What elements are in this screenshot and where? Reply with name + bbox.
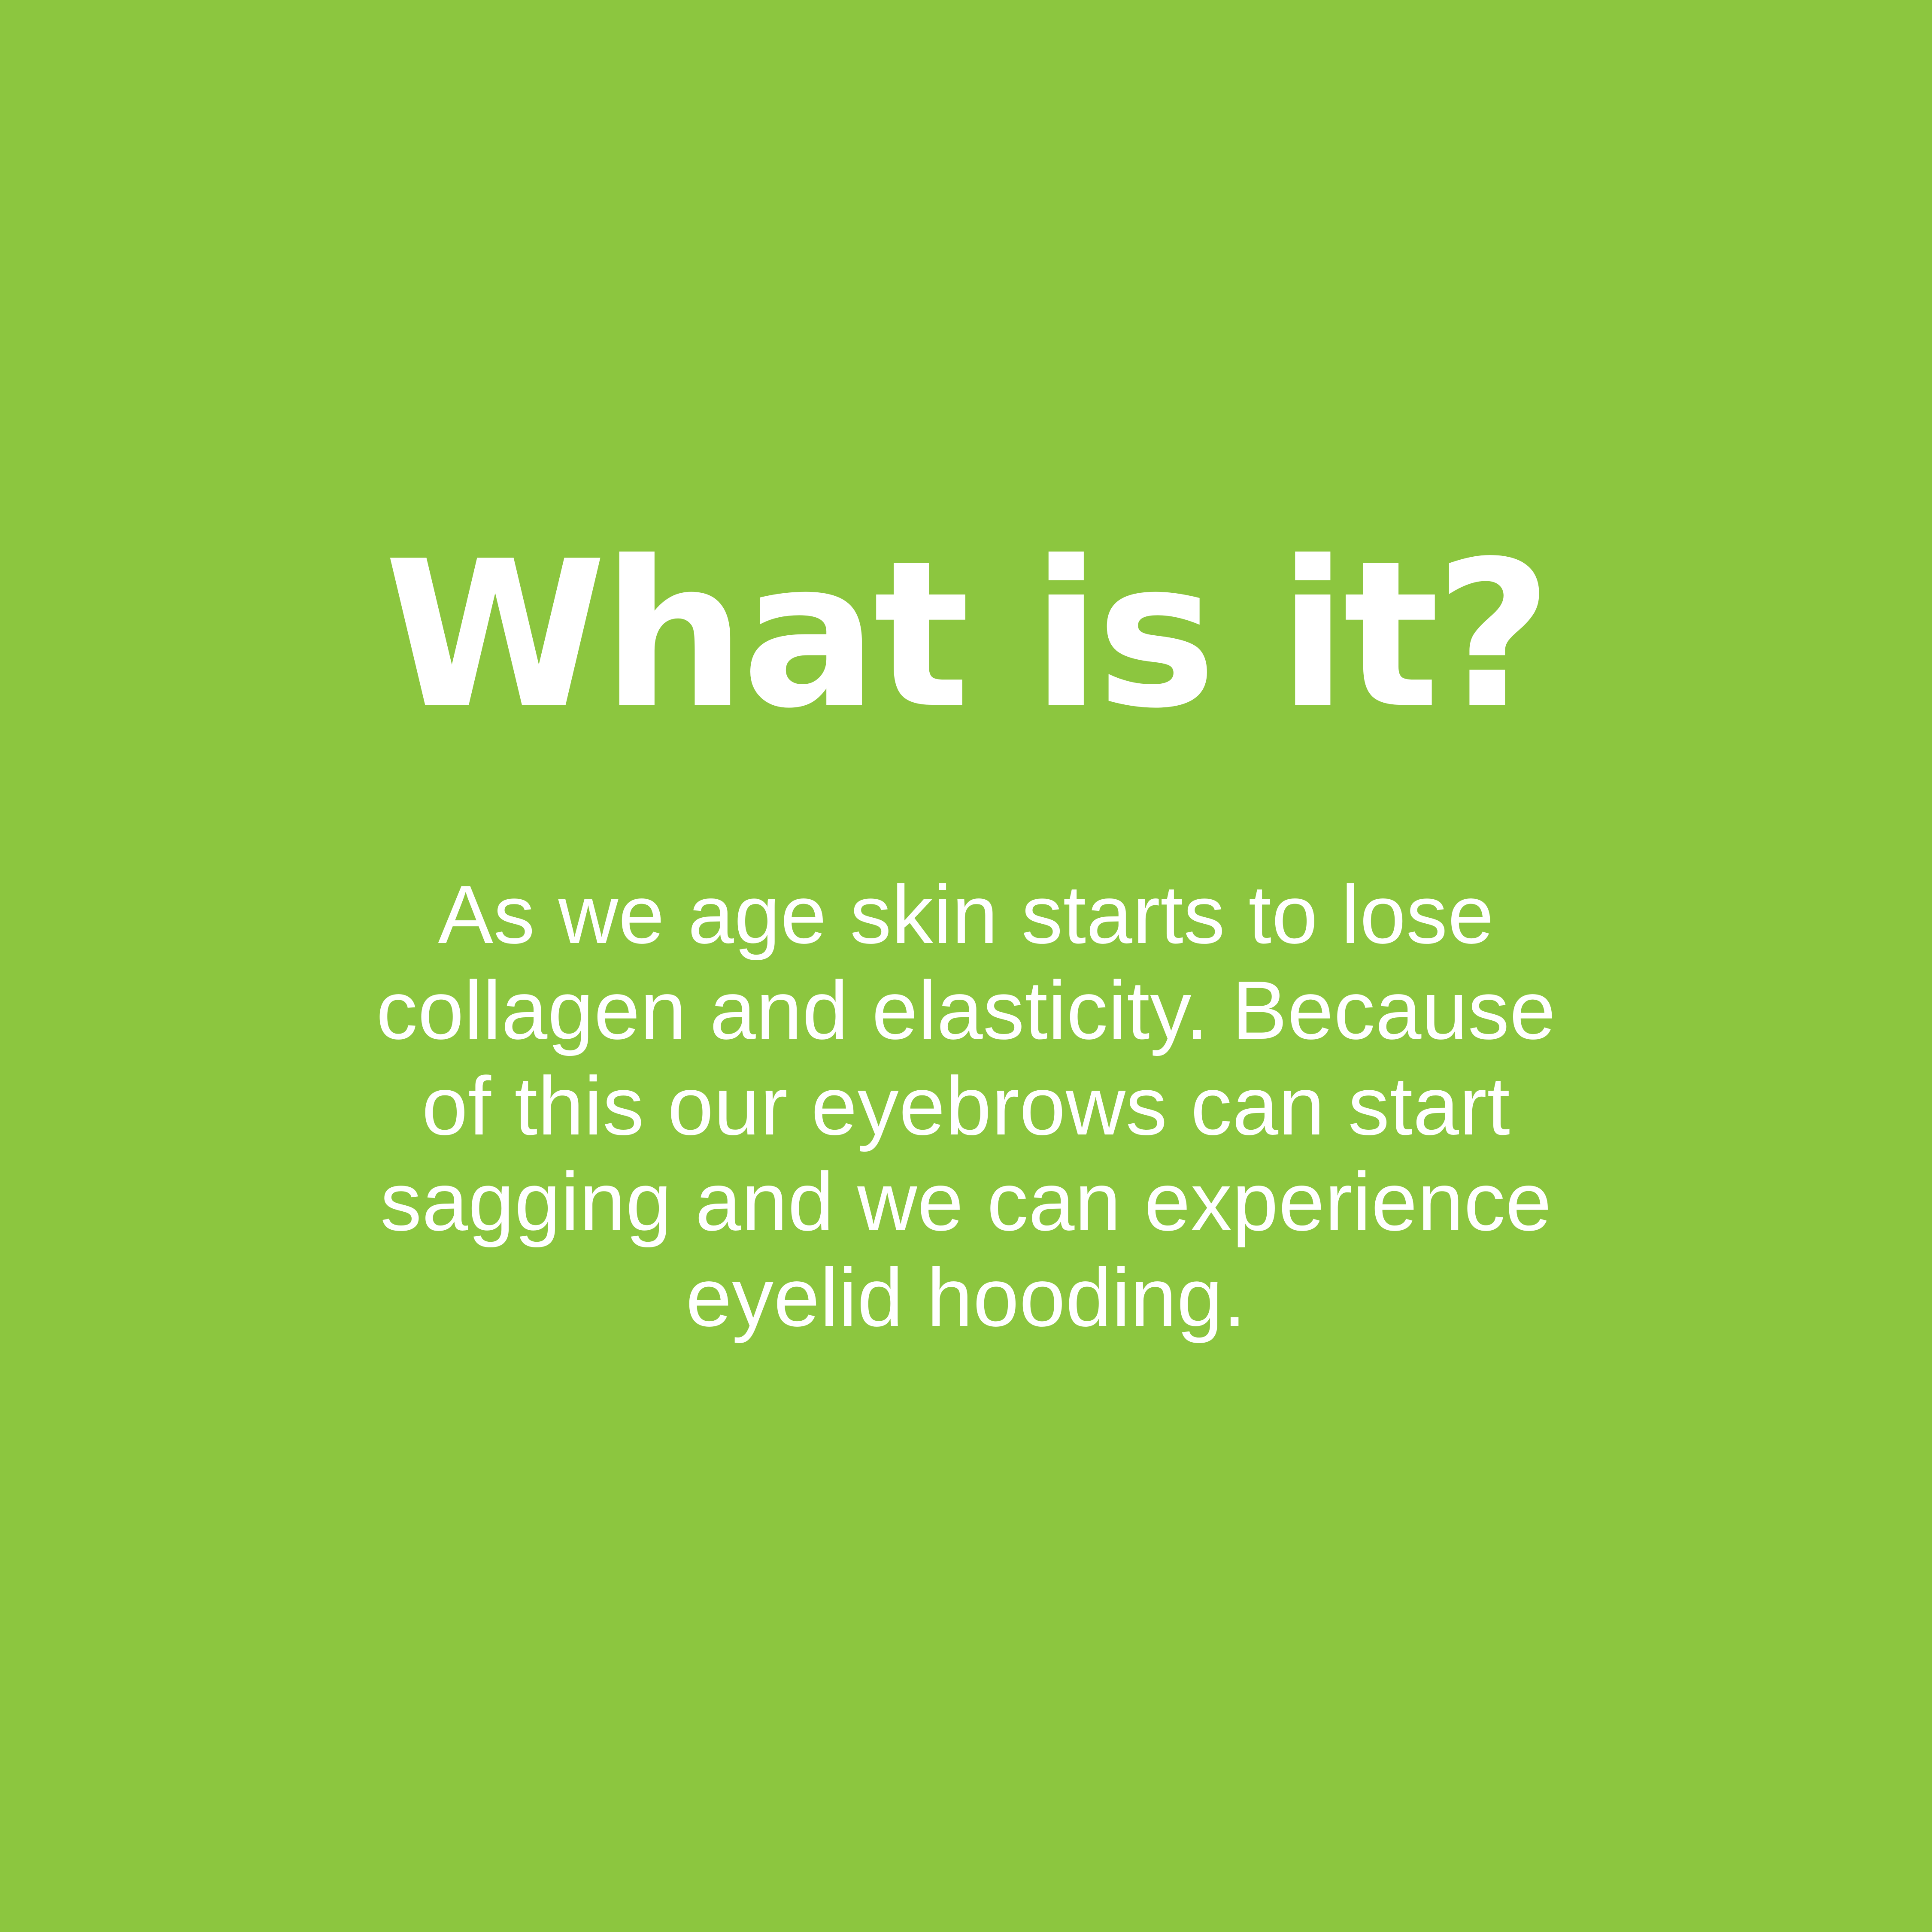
body-paragraph: As we age skin starts to lose collagen a… [359,867,1574,1345]
page-title: What is it? [344,532,1589,738]
content-block: What is it? As we age skin starts to los… [344,532,1589,1345]
informational-slide: What is it? As we age skin starts to los… [0,0,1932,1932]
